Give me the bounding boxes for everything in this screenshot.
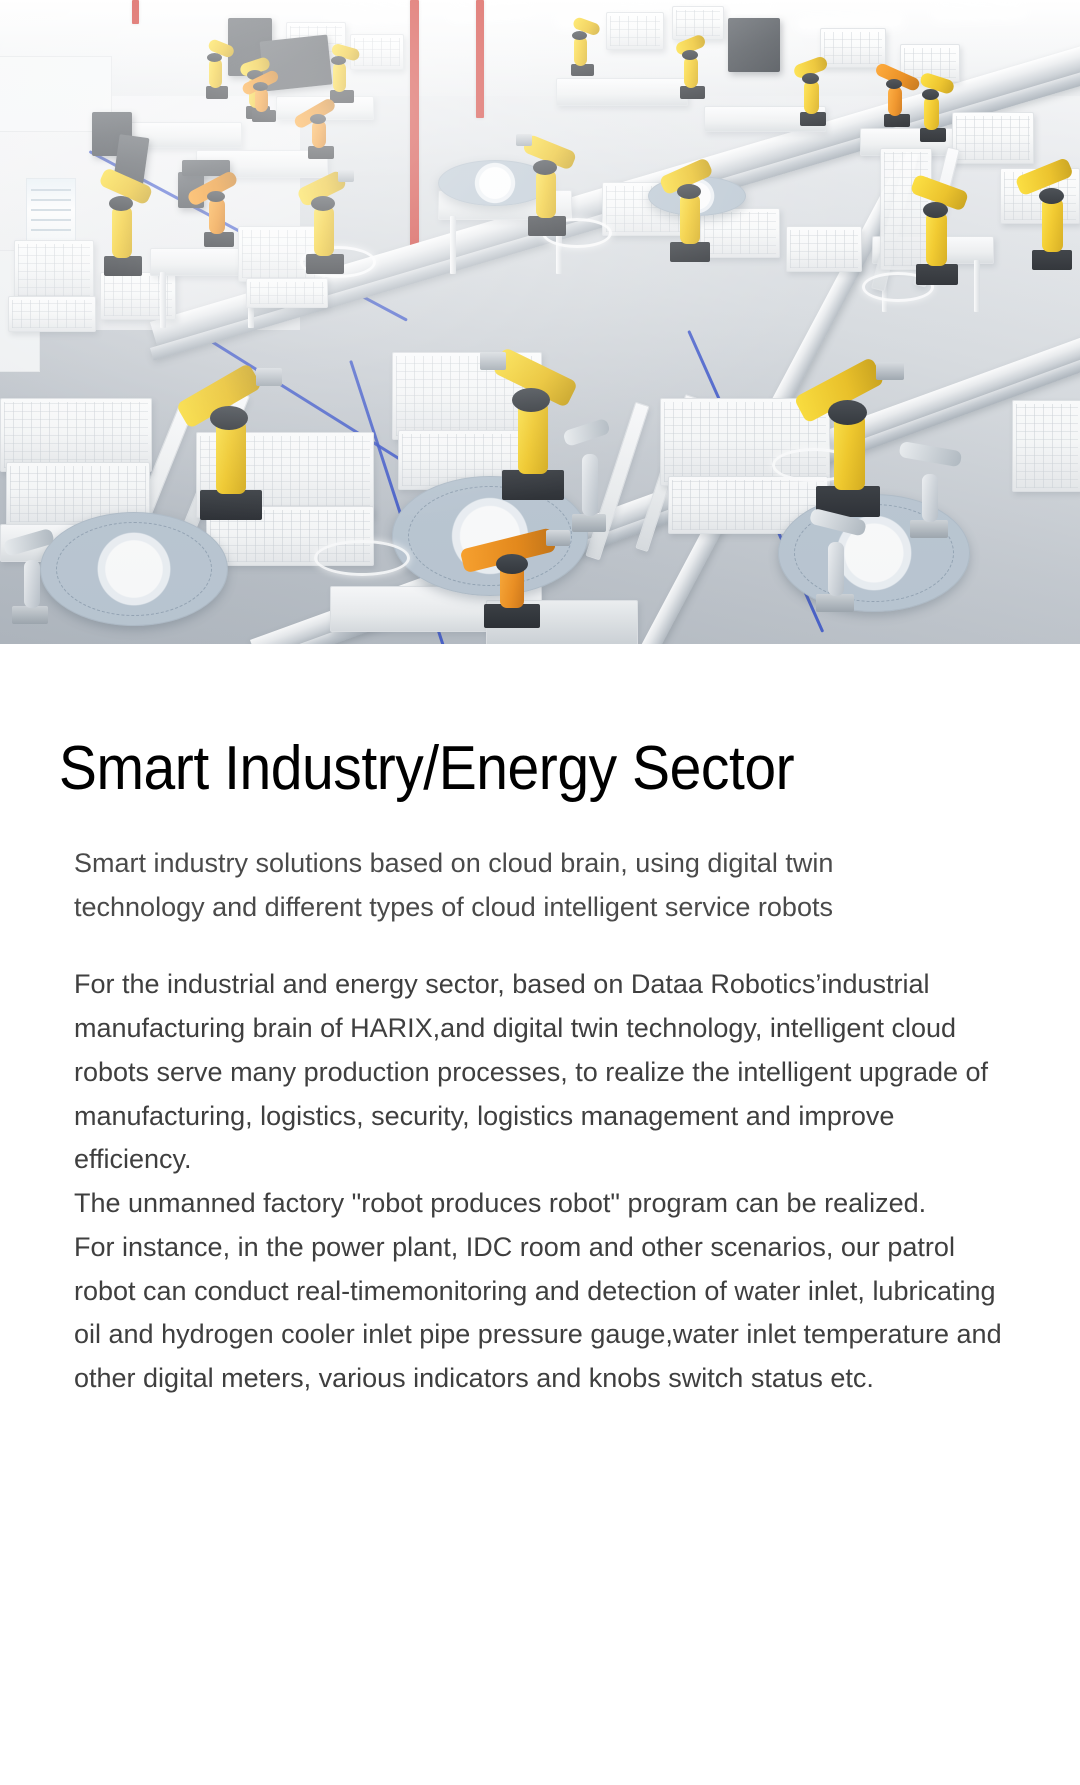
crate-stack [1012,400,1080,492]
body-paragraphs: For the industrial and energy sector, ba… [0,929,1080,1400]
orange-robot-arm [238,66,290,124]
yellow-robot-arm [560,14,602,78]
orange-robot-arm [292,96,348,162]
yellow-robot-arm [668,30,714,100]
crate-stack [786,226,862,272]
yellow-robot-arm [1010,150,1080,276]
gray-robot-arm [792,498,876,618]
bench-leg [974,260,980,312]
article-content: Smart Industry/Energy Sector Smart indus… [0,644,1080,1401]
yellow-robot-arm [786,50,836,128]
crate-stack [246,278,328,308]
gray-robot-arm [880,432,976,544]
orange-robot-arm [184,168,250,252]
yellow-robot-arm [196,36,236,100]
robot-floor-halo [314,540,410,576]
crate-stack [0,398,152,472]
yellow-robot-arm [648,150,724,266]
crate-stack [8,296,96,332]
orange-robot-arm [866,60,924,130]
paragraph-1: For the industrial and energy sector, ba… [74,963,1006,1182]
crate-stack [606,12,664,50]
gray-robot-arm [552,408,622,538]
wall-sign [26,178,76,248]
page-title: Smart Industry/Energy Sector [0,644,994,800]
bench-leg [450,216,456,274]
yellow-robot-arm [506,128,580,240]
red-pillar [476,0,484,118]
control-cabinet [728,18,780,72]
paragraph-3: For instance, in the power plant, IDC ro… [74,1226,1006,1401]
lede-paragraph: Smart industry solutions based on cloud … [0,800,1080,929]
paragraph-2: The unmanned factory "robot produces rob… [74,1182,1006,1226]
platter-ring [56,522,212,616]
yellow-robot-arm [164,362,294,522]
gray-robot-arm [0,520,70,630]
yellow-robot-arm [82,160,156,280]
red-pillar [410,0,419,252]
yellow-robot-arm [892,166,972,290]
yellow-robot-arm [286,162,358,278]
yellow-robot-arm [318,38,362,104]
hero-image [0,0,1080,644]
bench-leg [160,272,166,328]
red-pillar [132,0,139,24]
